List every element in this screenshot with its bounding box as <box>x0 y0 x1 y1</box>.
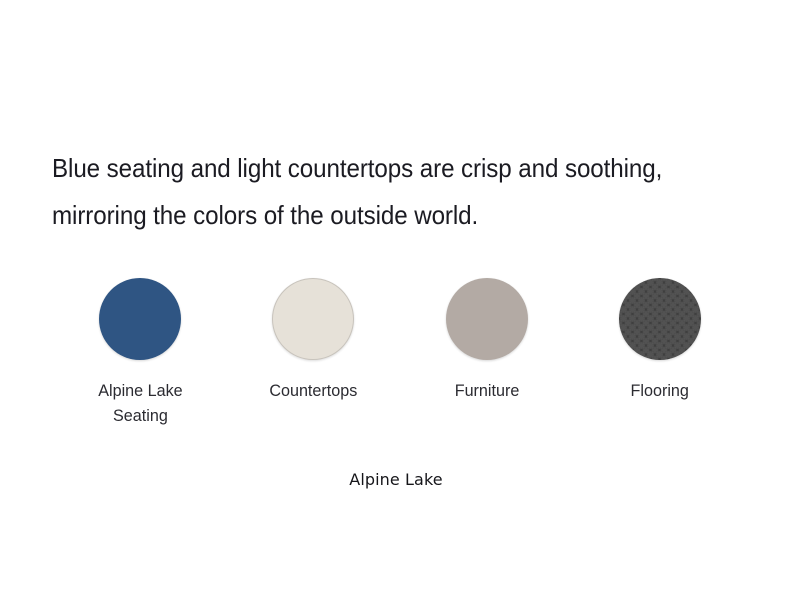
swatch-item-countertops[interactable]: Countertops <box>233 278 393 403</box>
swatch-label-flooring: Flooring <box>631 378 689 403</box>
swatch-label-line-1: Countertops <box>269 381 357 400</box>
swatch-color-circle-countertops[interactable] <box>272 278 354 360</box>
hexagonal-stud-texture <box>619 278 701 360</box>
swatch-label-furniture: Furniture <box>454 378 519 403</box>
swatch-row: Alpine Lake Seating Countertops Furnitur… <box>60 278 740 438</box>
swatch-label-line-1: Alpine Lake <box>98 381 182 400</box>
swatch-color-circle-furniture[interactable] <box>446 278 528 360</box>
headline-line-2: mirroring the colors of the outside worl… <box>52 192 712 239</box>
swatch-item-alpine-lake-seating[interactable]: Alpine Lake Seating <box>60 278 220 428</box>
swatch-label-line-1: Flooring <box>631 381 689 400</box>
swatch-label-line-2: Seating <box>113 406 168 425</box>
palette-slide: Blue seating and light countertops are c… <box>0 0 800 600</box>
swatch-label-alpine-lake-seating: Alpine Lake Seating <box>98 378 182 428</box>
swatch-color-circle-flooring[interactable] <box>619 278 701 360</box>
swatch-label-countertops: Countertops <box>269 378 357 403</box>
swatch-item-furniture[interactable]: Furniture <box>407 278 567 403</box>
swatch-item-flooring[interactable]: Flooring <box>580 278 740 403</box>
swatch-color-circle-alpine-lake-seating[interactable] <box>99 278 181 360</box>
slide-caption: Alpine Lake <box>0 470 800 489</box>
headline: Blue seating and light countertops are c… <box>52 145 712 239</box>
swatch-label-line-1: Furniture <box>454 381 519 400</box>
caption-text: Alpine Lake <box>349 470 442 489</box>
headline-line-1: Blue seating and light countertops are c… <box>52 145 712 192</box>
